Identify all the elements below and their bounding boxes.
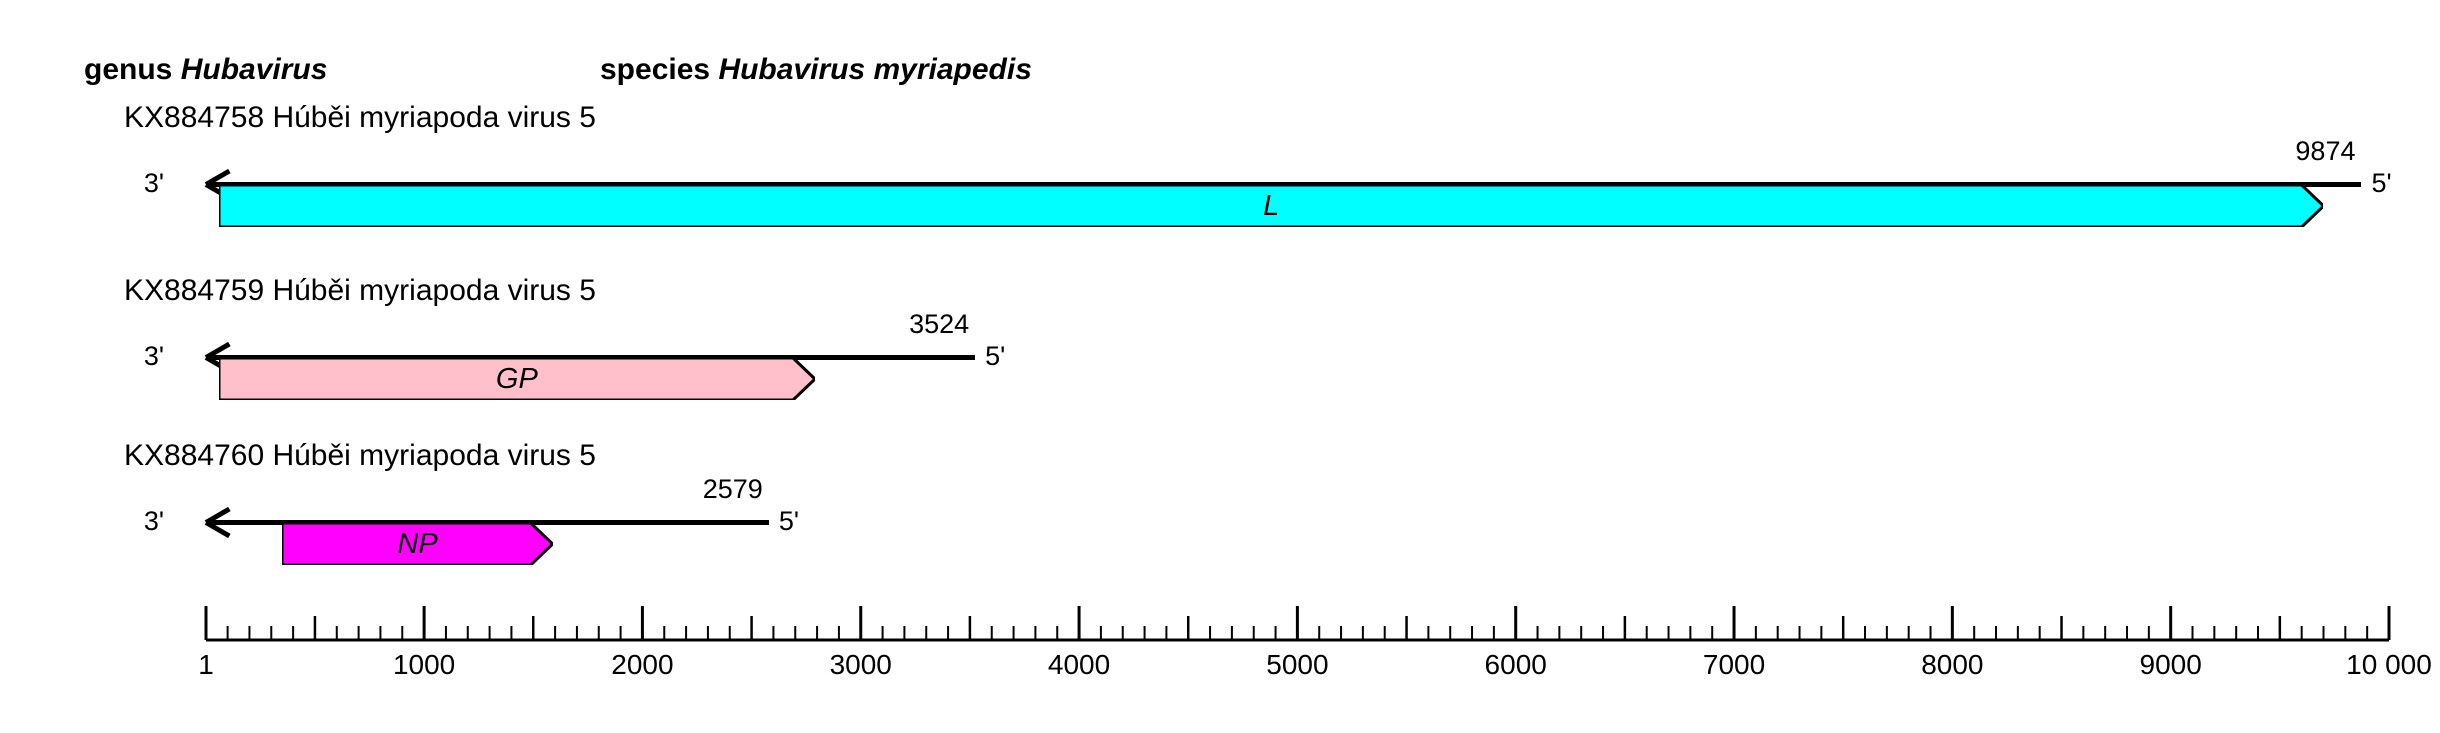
species-label: species Hubavirus myriapedis [600,52,1032,88]
segment-gp-track: 3'5'3524GP [0,325,2440,401]
segment-np-orf-np: NP [282,523,553,565]
segment-l-track: 3'5'9874L [0,152,2440,228]
segment-np-title: KX884760 Húběi myriapoda virus 5 [124,439,596,473]
segment-l-five-prime-label: 5' [2371,168,2391,198]
genus-name-text: Hubavirus [181,53,328,86]
segment-np-track: 3'5'2579NP [0,490,2440,566]
ruler-tick-label-1000: 1000 [393,648,455,682]
ruler-tick-label-4000: 4000 [1048,648,1110,682]
segment-gp-title: KX884759 Húběi myriapoda virus 5 [124,274,596,308]
ruler-tick-label-7000: 7000 [1703,648,1765,682]
segment-gp-five-prime-label: 5' [985,341,1005,371]
segment-np-five-prime-label: 5' [779,506,799,536]
segment-gp-orf-gp: GP [219,358,815,400]
segment-gp-length-label: 3524 [909,309,969,339]
segment-l-length-label: 9874 [2295,136,2355,166]
genus-rank-text: genus [84,53,172,86]
ruler-tick-label-9000: 9000 [2140,648,2202,682]
ruler-tick-label-10000: 10 000 [2346,648,2432,682]
ruler-tick-label-1: 1 [198,648,214,682]
ruler-tick-label-2000: 2000 [611,648,673,682]
segment-l-three-prime-label: 3' [144,168,164,198]
ruler-tick-label-3000: 3000 [830,648,892,682]
segment-np-length-label: 2579 [703,474,763,504]
scale-ruler [0,600,2440,650]
genome-map-figure: genus Hubavirus species Hubavirus myriap… [0,0,2440,733]
ruler-tick-label-5000: 5000 [1266,648,1328,682]
scale-ruler-labels: 110002000300040005000600070008000900010 … [0,648,2440,688]
ruler-tick-label-8000: 8000 [1921,648,1983,682]
segment-l-title: KX884758 Húběi myriapoda virus 5 [124,101,596,135]
segment-l-orf-l: L [219,185,2324,227]
species-name-text: Hubavirus myriapedis [718,53,1031,86]
taxonomy-header: genus Hubavirus species Hubavirus myriap… [0,52,2440,88]
ruler-tick-label-6000: 6000 [1485,648,1547,682]
species-rank-text: species [600,53,710,86]
segment-gp-three-prime-label: 3' [144,341,164,371]
genus-label: genus Hubavirus [84,52,327,88]
segment-np-three-prime-label: 3' [144,506,164,536]
